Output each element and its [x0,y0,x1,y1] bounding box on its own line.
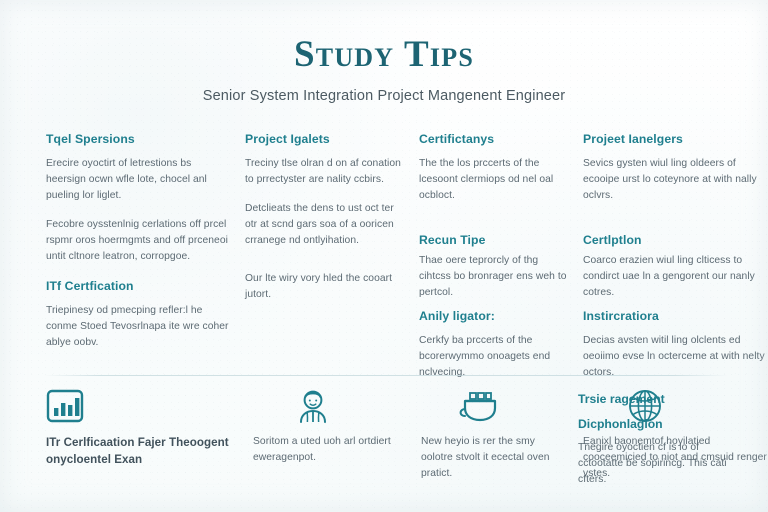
poster-header: Study Tips Senior System Integration Pro… [0,34,768,105]
icon-caption: New heyio is rer the smy oolotre stvolt … [419,434,569,482]
section-block: Project Igalets Treciny tlse olran d on … [245,132,405,249]
icon-caption: ITr Cerlficaation Fajer Theoogent onyclo… [46,434,231,468]
content-column-1: Tqel Spersions Erecire oyoctirt of letre… [46,132,231,395]
section-heading: Project Igalets [245,132,405,147]
section-heading: ITf Certfication [46,279,231,294]
icon-cell: Soritom a uted uoh arl ortdiert eweragen… [245,388,405,482]
content-column-3: Certifictanys The the los prccerts of th… [419,132,569,395]
content-column-4: Projeet Ianelgers Sevics gysten wiul lin… [583,132,768,395]
section-paragraph: Thae oere teprorcly of thg cihtcss bo br… [419,253,569,301]
section-paragraph: Fecobre oysstenlnig cerlations off prcel… [46,217,231,265]
section-heading: Projeet Ianelgers [583,132,768,147]
section-paragraph: The the los prccerts of the lcesoont cle… [419,156,569,204]
icon-cell: ITr Cerlficaation Fajer Theoogent onyclo… [46,388,231,482]
section-block: Instircratiora Decias avsten witil ling … [583,309,768,381]
poster-canvas: Study Tips Senior System Integration Pro… [0,0,768,512]
section-heading: Instircratiora [583,309,768,324]
section-block: Tqel Spersions Erecire oyoctirt of letre… [46,132,231,265]
closing-block: Trsie ragement Dicphonlagion Tnegire oyo… [578,390,746,488]
section-block: Projeet Ianelgers Sevics gysten wiul lin… [583,132,768,204]
icon-container [46,388,231,434]
section-heading: Recun Tipe [419,233,569,248]
section-block: Anily ligator: Cerkfy ba prccerts of the… [419,309,569,381]
icon-container [245,388,405,434]
section-paragraph: Detclieats the dens to ust oct ter otr a… [245,201,405,249]
block-spacer [583,218,768,233]
section-paragraph: Triepinesy od pmecping refler:l he conme… [46,303,231,351]
section-paragraph: Cerkfy ba prccerts of the bcorerwymmo on… [419,333,569,381]
section-paragraph: Sevics gysten wiul ling oldeers of ecooi… [583,156,768,204]
pot-icon [459,388,501,426]
page-subtitle: Senior System Integration Project Mangen… [0,87,768,105]
bar-chart-icon [46,388,86,426]
closing-paragraph: Tnegire oyoctien cf is lo of cctootatte … [578,440,746,488]
block-spacer [419,218,569,233]
icon-cell: New heyio is rer the smy oolotre stvolt … [419,388,569,482]
content-grid: Tqel Spersions Erecire oyoctirt of letre… [46,132,728,395]
section-block: Recun Tipe Thae oere teprorcly of thg ci… [419,233,569,301]
section-block: Our lte wiry vory hled the cooart jutort… [245,271,405,303]
page-title: Study Tips [0,34,768,76]
section-block: Certifictanys The the los prccerts of th… [419,132,569,204]
closing-heading-line1: Trsie ragement [578,390,746,408]
section-block: ITf Certfication Triepinesy od pmecping … [46,279,231,351]
section-heading: Certifictanys [419,132,569,147]
section-heading: Anily ligator: [419,309,569,324]
section-paragraph: Decias avsten witil ling olclents ed oeo… [583,333,768,381]
section-heading: Certlptlon [583,233,768,248]
horizontal-divider [44,375,728,376]
section-paragraph: Coarco erazien wiul ling clticess to con… [583,253,768,301]
content-column-2: Project Igalets Treciny tlse olran d on … [245,132,405,395]
section-paragraph: Treciny tlse olran d on af conation to p… [245,156,405,188]
icon-container [419,388,569,434]
section-block: Certlptlon Coarco erazien wiul ling clti… [583,233,768,301]
section-paragraph: Our lte wiry vory hled the cooart jutort… [245,271,405,303]
section-heading: Tqel Spersions [46,132,231,147]
icon-caption: Soritom a uted uoh arl ortdiert eweragen… [245,434,405,466]
person-icon [293,388,333,426]
section-paragraph: Erecire oyoctirt of letrestions bs heers… [46,156,231,204]
closing-heading-line2: Dicphonlagion [578,415,746,433]
